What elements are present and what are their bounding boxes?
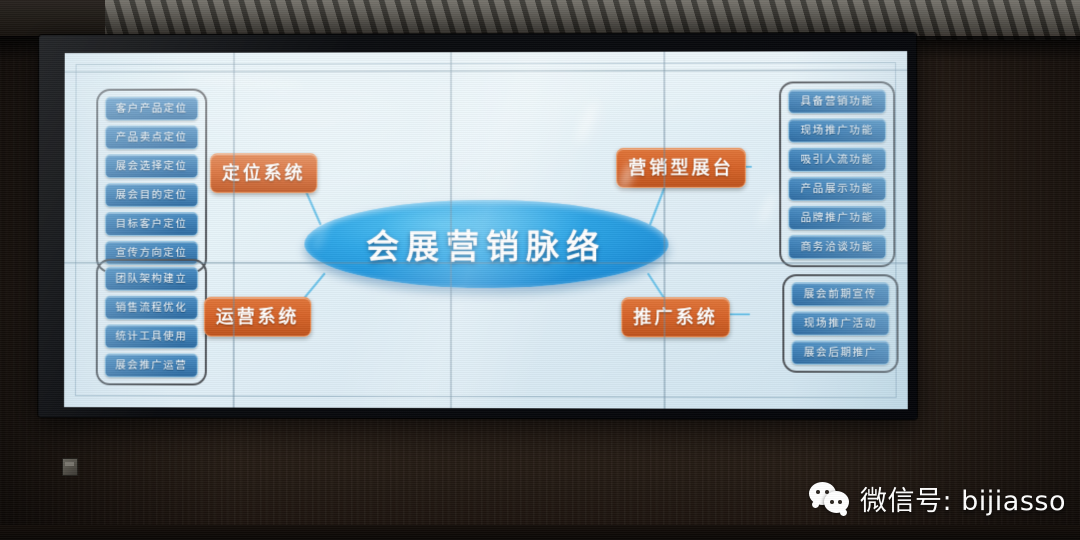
item-pill[interactable]: 目标客户定位 [105,212,198,236]
center-node[interactable]: 会展营销脉络 [304,200,668,296]
branch-label-positioning[interactable]: 定位系统 [210,153,317,193]
watermark: 微信号: bijiasso [809,479,1066,518]
panel-seam-vertical [450,52,452,408]
branch-label-operations[interactable]: 运营系统 [204,297,311,337]
item-pill[interactable]: 展会后期推广 [791,341,889,365]
item-pill[interactable]: 销售流程优化 [105,296,198,320]
item-pill[interactable]: 展会选择定位 [105,154,198,178]
watermark-text: 微信号: bijiasso [860,479,1066,518]
item-pill[interactable]: 展会目的定位 [105,183,198,207]
branch-label-promotion[interactable]: 推广系统 [621,297,730,337]
item-pill[interactable]: 产品展示功能 [788,177,886,201]
branch-label-marketing-booth[interactable]: 营销型展台 [616,148,746,188]
item-pill[interactable]: 吸引人流功能 [788,148,886,172]
panel-seam-vertical [663,52,665,409]
group-marketing-booth-items: 具备营销功能 现场推广功能 吸引人流功能 产品展示功能 品牌推广功能 商务洽谈功… [779,81,895,267]
wall-outlet-plate [62,458,78,476]
item-pill[interactable]: 团队架构建立 [105,267,198,291]
video-wall-monitor[interactable]: 客户产品定位 产品卖点定位 展会选择定位 展会目的定位 目标客户定位 宣传方向定… [38,33,917,419]
item-pill[interactable]: 品牌推广功能 [788,206,886,230]
presentation-slide: 客户产品定位 产品卖点定位 展会选择定位 展会目的定位 目标客户定位 宣传方向定… [64,51,908,409]
item-pill[interactable]: 现场推广功能 [788,118,886,142]
center-node-title: 会展营销脉络 [304,200,668,288]
item-pill[interactable]: 客户产品定位 [105,97,198,121]
group-promotion-items: 展会前期宣传 现场推广活动 展会后期推广 [782,274,898,373]
group-positioning-items: 客户产品定位 产品卖点定位 展会选择定位 展会目的定位 目标客户定位 宣传方向定… [96,89,207,273]
item-pill[interactable]: 商务洽谈功能 [788,235,886,259]
wall-baseboard [0,525,1080,540]
item-pill[interactable]: 现场推广活动 [791,311,889,335]
item-pill[interactable]: 统计工具使用 [105,325,198,349]
item-pill[interactable]: 产品卖点定位 [105,125,198,149]
panel-seam-vertical [233,53,235,408]
item-pill[interactable]: 展会推广运营 [105,353,198,377]
wechat-bubble-front [824,491,849,513]
photo-scene: 客户产品定位 产品卖点定位 展会选择定位 展会目的定位 目标客户定位 宣传方向定… [0,0,1080,540]
item-pill[interactable]: 展会前期宣传 [791,282,889,306]
group-operations-items: 团队架构建立 销售流程优化 统计工具使用 展会推广运营 [96,259,207,386]
video-wall-screen[interactable]: 客户产品定位 产品卖点定位 展会选择定位 展会目的定位 目标客户定位 宣传方向定… [64,51,908,409]
item-pill[interactable]: 具备营销功能 [788,89,886,113]
wechat-icon [809,482,851,516]
